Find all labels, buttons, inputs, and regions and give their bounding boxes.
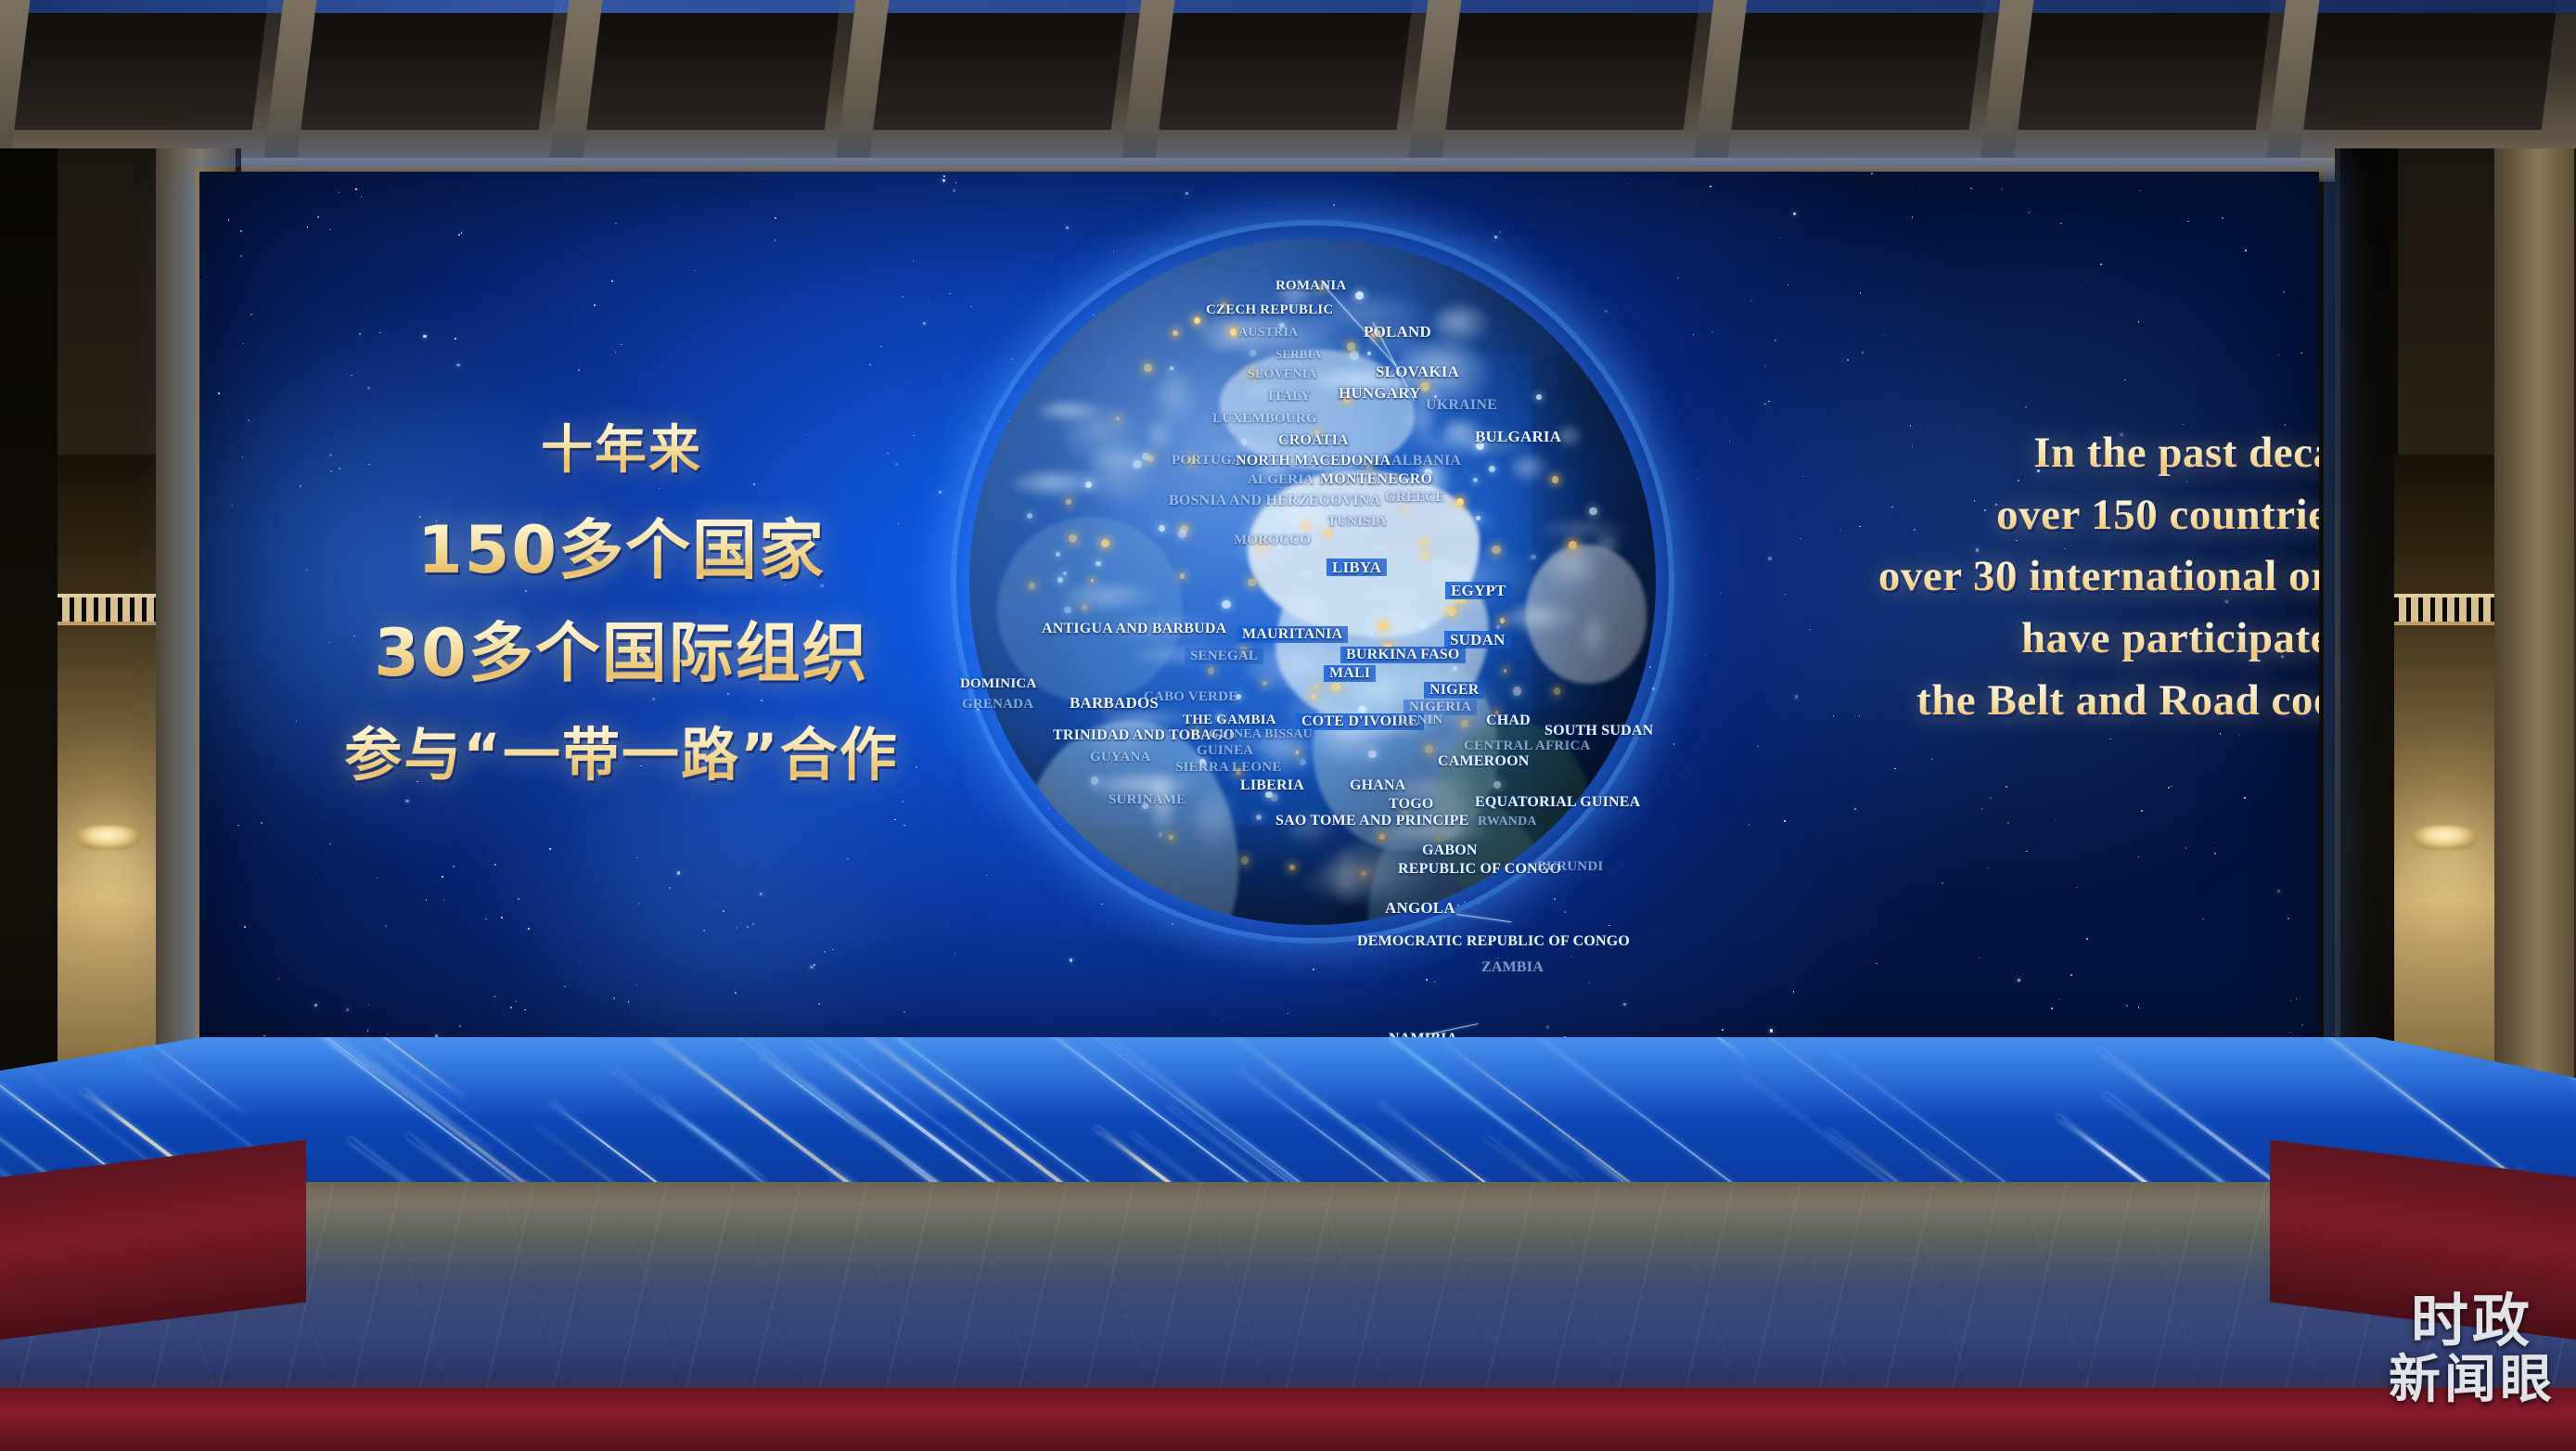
country-label: DEMOCRATIC REPUBLIC OF CONGO: [1357, 934, 1630, 949]
star: [240, 230, 242, 232]
star: [426, 899, 428, 901]
country-label: BENIN: [1398, 713, 1443, 727]
star: [361, 196, 363, 198]
star: [423, 335, 426, 338]
english-line-2: over 150 countries and: [1851, 484, 2319, 546]
star: [735, 992, 737, 994]
star: [528, 928, 530, 930]
star: [1494, 236, 1497, 238]
country-label: SAO TOME AND PRINCIPE: [1275, 814, 1469, 828]
star: [904, 825, 905, 827]
star: [1809, 629, 1811, 631]
country-label: GREECE: [1385, 491, 1445, 505]
star: [832, 949, 834, 951]
star: [2244, 797, 2246, 799]
star: [752, 923, 754, 925]
star: [218, 392, 220, 394]
country-label: TRINIDAD AND TOBAGO: [1053, 728, 1235, 743]
country-label: SERBIA: [1275, 348, 1322, 360]
star: [2168, 787, 2170, 789]
star: [510, 1007, 512, 1008]
star: [228, 219, 230, 221]
country-label: EGYPT: [1445, 582, 1512, 599]
star: [747, 926, 749, 928]
star: [1750, 300, 1752, 302]
country-label: ITALY: [1268, 390, 1311, 404]
led-video-wall[interactable]: ROMANIACZECH REPUBLICAUSTRIASERBIAPOLAND…: [199, 172, 2319, 1062]
star: [461, 232, 463, 234]
country-label: BARBADOS: [1070, 695, 1159, 711]
star: [717, 904, 719, 905]
star: [2300, 353, 2302, 354]
country-label: RWANDA: [1478, 815, 1537, 828]
star: [1720, 593, 1722, 595]
star: [1970, 187, 1972, 189]
venue-room: ROMANIACZECH REPUBLICAUSTRIASERBIAPOLAND…: [0, 0, 2576, 1451]
star: [1565, 911, 1567, 913]
ceiling-panel: [1722, 0, 1986, 130]
left-sconce-light: [74, 826, 141, 850]
star: [1313, 969, 1314, 970]
star: [1987, 867, 1989, 869]
star: [695, 270, 697, 272]
country-label: BURUNDI: [1537, 860, 1603, 874]
star: [2215, 842, 2217, 844]
star: [923, 322, 926, 325]
star: [955, 182, 957, 184]
star: [240, 255, 242, 257]
english-line-3: over 30 international organizations: [1851, 546, 2319, 608]
star: [775, 239, 776, 241]
country-label: BOSNIA AND HERZEGOVINA: [1169, 494, 1380, 508]
star: [2185, 847, 2187, 849]
star: [1775, 340, 1776, 341]
country-label: SENEGAL: [1185, 648, 1263, 664]
star: [1570, 957, 1572, 958]
star: [1288, 1013, 1289, 1015]
star: [818, 1003, 820, 1005]
star: [952, 552, 954, 554]
star: [494, 864, 496, 866]
star: [329, 843, 331, 845]
star: [1778, 647, 1780, 648]
star: [2202, 918, 2204, 920]
country-label: MAURITANIA: [1237, 626, 1348, 643]
star: [1942, 882, 1943, 884]
star: [621, 344, 622, 346]
star: [2007, 822, 2009, 824]
country-label: THE GAMBIA: [1183, 713, 1276, 727]
star: [814, 964, 815, 966]
coffered-ceiling: [0, 0, 2576, 182]
star: [518, 898, 519, 900]
watermark-line-1: 时政: [2389, 1291, 2556, 1350]
star: [1833, 715, 1835, 717]
star: [1862, 352, 1864, 353]
star: [261, 822, 263, 824]
star: [1499, 231, 1501, 233]
star: [367, 387, 370, 390]
star: [1912, 216, 1914, 218]
star: [242, 343, 244, 345]
country-label: NORTH MACEDONIA: [1236, 454, 1391, 469]
star: [902, 801, 904, 803]
star: [824, 951, 826, 953]
star: [1854, 808, 1856, 810]
country-label: ALGERIA: [1248, 473, 1314, 487]
star: [2289, 1032, 2291, 1034]
star: [970, 306, 972, 308]
star: [1931, 758, 1933, 760]
star: [2051, 1008, 2053, 1009]
star: [2301, 1024, 2303, 1026]
star: [1800, 538, 1801, 540]
star: [351, 375, 352, 377]
country-label: HUNGARY: [1339, 385, 1421, 401]
chinese-line-4: 参与“一带一路”合作: [315, 708, 928, 791]
star: [442, 876, 443, 878]
star: [2238, 734, 2240, 736]
star: [775, 217, 776, 219]
star: [2026, 851, 2028, 853]
star: [986, 875, 988, 877]
star: [1768, 557, 1771, 559]
star: [494, 995, 496, 997]
star: [307, 226, 309, 228]
star: [1434, 982, 1436, 983]
star: [1185, 192, 1188, 195]
ceiling-panel: [1149, 0, 1414, 130]
star: [1981, 808, 1983, 810]
country-label: GUINEA: [1197, 744, 1253, 758]
star: [2222, 217, 2224, 219]
star: [317, 216, 319, 218]
country-label: ZAMBIA: [1481, 960, 1544, 975]
right-sconce-light: [2411, 826, 2478, 850]
star: [2018, 979, 2020, 982]
country-label: SLOVAKIA: [1376, 364, 1459, 379]
star: [1649, 666, 1651, 668]
star: [2278, 354, 2280, 356]
star: [2139, 190, 2141, 192]
country-label: GHANA: [1350, 778, 1406, 793]
country-label: ALBANIA: [1391, 454, 1461, 469]
star: [359, 333, 361, 335]
star: [1795, 695, 1798, 698]
country-label: AUSTRIA: [1238, 327, 1298, 340]
country-label: SIERRA LEONE: [1175, 761, 1282, 775]
star: [2086, 279, 2088, 281]
star: [405, 800, 408, 803]
chinese-line-2: 150多个国家: [315, 498, 928, 592]
star: [306, 570, 308, 571]
star: [949, 293, 951, 295]
star: [2220, 733, 2222, 735]
star: [329, 229, 331, 231]
star: [615, 352, 617, 353]
star: [2025, 406, 2027, 408]
star: [942, 179, 945, 182]
country-label: MONTENEGRO: [1320, 472, 1432, 487]
star: [2006, 786, 2007, 788]
star: [443, 899, 445, 901]
star: [1770, 1029, 1773, 1032]
star: [2138, 321, 2140, 323]
star: [1779, 238, 1781, 239]
country-label: MOROCCO: [1234, 533, 1311, 547]
star: [2058, 999, 2060, 1001]
country-label: MALI: [1324, 665, 1376, 682]
star: [1847, 359, 1849, 361]
country-label: BURKINA FASO: [1340, 647, 1466, 663]
star: [1426, 979, 1428, 981]
star: [1882, 335, 1884, 337]
star: [913, 260, 915, 262]
star: [1876, 963, 1878, 965]
country-label: GRENADA: [962, 698, 1033, 712]
star: [1223, 1021, 1224, 1022]
english-line-4: have participated in: [1851, 608, 2319, 670]
star: [355, 188, 357, 190]
ceiling-panel: [2294, 0, 2558, 130]
star: [1677, 277, 1679, 279]
star: [953, 189, 955, 192]
star: [1546, 1025, 1549, 1028]
country-label: DOMINICA: [960, 677, 1036, 691]
star: [2109, 738, 2111, 740]
star: [564, 986, 566, 988]
ceiling-panel: [577, 0, 841, 130]
country-label: UKRAINE: [1426, 398, 1497, 413]
star: [1802, 476, 1804, 478]
star: [385, 925, 387, 927]
star: [955, 503, 957, 505]
star: [524, 1009, 526, 1011]
star: [847, 858, 849, 860]
country-label: GUYANA: [1090, 751, 1151, 764]
star: [2126, 1005, 2128, 1007]
star: [504, 1015, 506, 1017]
star: [453, 866, 455, 867]
country-label: SOUTH SUDAN: [1544, 724, 1653, 738]
star: [638, 903, 640, 905]
star: [1267, 202, 1269, 204]
country-label: GUINEA BISSAU: [1209, 728, 1313, 741]
star: [1589, 982, 1591, 983]
star: [368, 1005, 370, 1007]
star: [237, 825, 239, 827]
star: [1768, 401, 1770, 403]
country-label: CZECH REPUBLIC: [1206, 303, 1333, 317]
star: [377, 878, 378, 880]
star: [501, 917, 503, 918]
star: [2001, 188, 2003, 190]
red-carpet-foreground: [0, 1388, 2576, 1451]
star: [1070, 958, 1072, 961]
left-sconce-glow: [58, 733, 158, 1002]
star: [459, 1025, 461, 1027]
star: [549, 848, 551, 850]
star: [1113, 250, 1115, 252]
star: [2296, 998, 2298, 1000]
star: [677, 871, 680, 874]
star: [1711, 331, 1713, 333]
english-line-1: In the past decade,: [1851, 422, 2319, 484]
light-streak: [1646, 1037, 1747, 1059]
star: [1605, 310, 1608, 313]
english-headline-block: In the past decade, over 150 countries a…: [1851, 422, 2319, 732]
star: [2245, 250, 2247, 251]
watermark-line-2: 新闻眼: [2389, 1354, 2556, 1406]
country-label: SLOVENIA: [1248, 368, 1317, 381]
chinese-headline-block: 十年来 150多个国家 30多个国际组织 参与“一带一路”合作: [315, 408, 928, 791]
star: [1757, 746, 1759, 748]
star: [760, 892, 763, 895]
star: [1722, 1029, 1724, 1031]
star: [248, 419, 250, 421]
star: [2141, 810, 2143, 812]
country-label: TOGO: [1389, 797, 1434, 812]
star: [1066, 226, 1069, 229]
star: [1979, 957, 1980, 959]
star: [2100, 263, 2102, 265]
star: [242, 456, 244, 458]
star: [929, 302, 931, 303]
right-sconce-glow: [2394, 733, 2494, 1002]
star: [636, 984, 638, 986]
star: [1554, 898, 1556, 900]
star: [2171, 786, 2172, 788]
star: [1652, 687, 1655, 690]
country-label: ROMANIA: [1275, 279, 1346, 293]
star: [387, 1034, 389, 1035]
star: [278, 978, 280, 980]
star: [2055, 819, 2057, 821]
star: [1673, 743, 1675, 745]
star: [628, 1001, 630, 1003]
star: [880, 346, 882, 348]
star: [2138, 1007, 2140, 1008]
star: [312, 880, 314, 881]
left-balustrade: [58, 594, 158, 625]
star: [250, 314, 252, 315]
star: [2029, 212, 2031, 213]
country-label: ANTIGUA AND BARBUDA: [1042, 622, 1226, 636]
star: [244, 926, 246, 928]
star: [2060, 223, 2062, 225]
star: [955, 953, 956, 955]
star: [206, 276, 208, 278]
star: [231, 505, 233, 507]
star: [2283, 291, 2285, 293]
star: [485, 918, 487, 920]
country-label: CENTRAL AFRICA: [1464, 739, 1591, 753]
chinese-line-1: 十年来: [315, 408, 928, 483]
star: [2072, 878, 2074, 880]
star: [1894, 768, 1896, 770]
star: [1784, 820, 1786, 822]
star: [1710, 186, 1711, 187]
star: [2277, 890, 2280, 892]
ceiling-panel: [290, 0, 555, 130]
star: [1793, 991, 1795, 993]
star: [615, 223, 617, 225]
star: [613, 997, 615, 999]
star: [1623, 1003, 1626, 1006]
ceiling-panel: [5, 0, 269, 130]
ceiling-panel: [863, 0, 1127, 130]
star: [1608, 925, 1610, 927]
star: [2288, 918, 2289, 919]
country-label: EQUATORIAL GUINEA: [1475, 795, 1640, 810]
star: [2290, 1000, 2292, 1002]
star: [1920, 189, 1922, 191]
country-label: CHAD: [1486, 713, 1531, 728]
star: [2124, 379, 2126, 381]
star: [1839, 530, 1841, 532]
marble-floor: [0, 1182, 2576, 1451]
star: [1011, 358, 1013, 360]
star: [1871, 173, 1873, 174]
star: [314, 1004, 317, 1007]
star: [300, 485, 301, 487]
star: [578, 369, 580, 371]
star: [1990, 797, 1992, 799]
star: [902, 296, 904, 298]
star: [456, 364, 459, 366]
star: [322, 818, 324, 820]
ceiling-panel: [2008, 0, 2273, 130]
star: [869, 364, 871, 366]
country-label: TUNISIA: [1327, 515, 1387, 529]
star: [1764, 366, 1766, 367]
star: [2086, 938, 2088, 940]
star: [810, 966, 813, 969]
country-label: LIBERIA: [1240, 778, 1304, 793]
country-label: ANGOLA: [1385, 900, 1455, 916]
star: [458, 234, 460, 236]
country-label: CAMEROON: [1438, 754, 1529, 769]
chinese-line-3: 30多个国际组织: [315, 601, 928, 695]
star: [515, 1001, 517, 1003]
english-line-5: the Belt and Road cooperation.: [1851, 670, 2319, 732]
broadcaster-watermark: 时政 新闻眼: [2389, 1291, 2556, 1406]
star: [939, 491, 942, 494]
star: [296, 720, 298, 722]
star: [2214, 853, 2216, 854]
ceiling-glow-strip: [0, 0, 2576, 13]
star: [894, 819, 896, 821]
star: [263, 1035, 265, 1037]
star: [1697, 478, 1698, 480]
star: [455, 338, 456, 340]
star: [580, 961, 582, 963]
star: [703, 930, 705, 931]
star: [1749, 824, 1750, 826]
star: [2138, 856, 2140, 858]
star: [904, 1011, 905, 1013]
right-balustrade: [2394, 594, 2494, 625]
star: [1713, 555, 1715, 557]
star: [636, 857, 638, 859]
star: [1788, 284, 1789, 286]
star: [1793, 212, 1796, 215]
star: [1705, 655, 1707, 657]
star: [346, 1008, 349, 1011]
star: [339, 192, 340, 194]
star: [943, 175, 945, 177]
star: [611, 280, 613, 282]
